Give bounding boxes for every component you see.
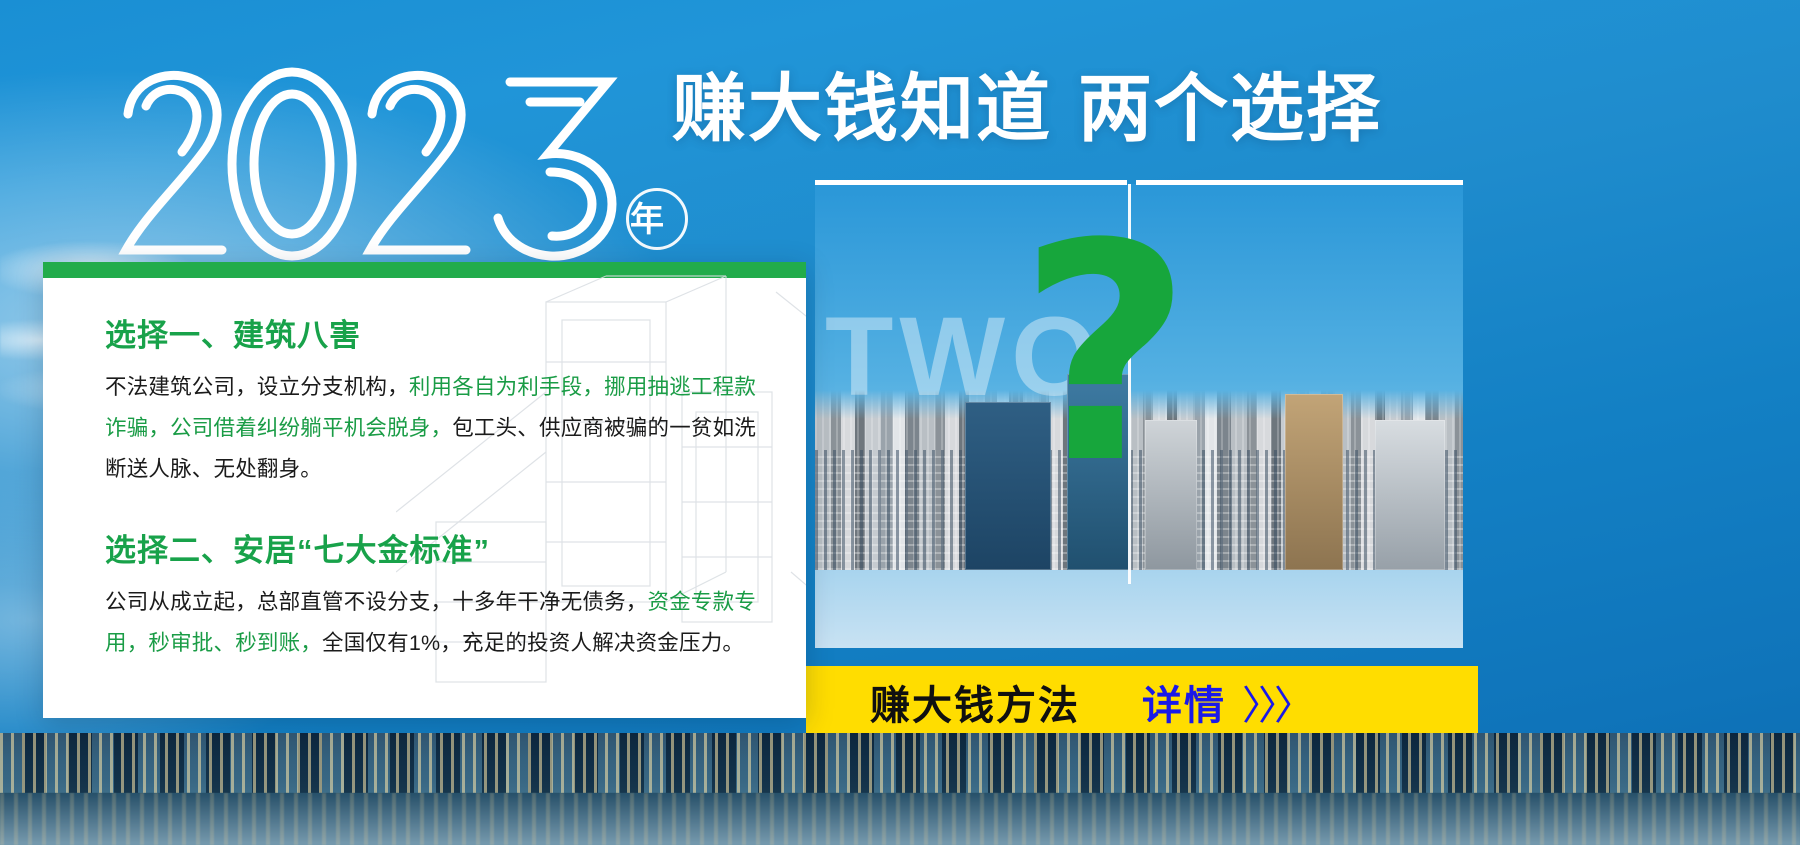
headline-rule-right — [1136, 180, 1463, 185]
s1-line2-black: 包工头、供应商被骗的一贫如洗 — [452, 416, 756, 440]
banner-stage: TWO CHOICES ? — [0, 0, 1800, 845]
page-title: 赚大钱知道两个选择 — [672, 72, 1382, 146]
s2-line2-green: 用，秒审批、秒到账， — [105, 631, 322, 655]
s2-line1-black: 公司从成立起，总部直管不设分支，十多年干净无债务， — [105, 590, 648, 614]
bottom-water-reflection — [0, 793, 1800, 845]
s2-line1-green: 资金专款专 — [648, 590, 757, 614]
cta-banner[interactable]: 赚大钱方法 详情 〉〉〉 — [806, 666, 1478, 738]
chevron-right-icon: 〉〉〉 — [1242, 673, 1310, 731]
bottom-buildings — [0, 733, 1800, 793]
headline-part-2: 两个选择 — [1078, 67, 1382, 150]
section-2-title: 选择二、安居“七大金标准” — [105, 525, 795, 570]
question-mark-graphic: ? — [1018, 205, 1192, 505]
s1-line1-black: 不法建筑公司，设立分支机构， — [105, 375, 409, 399]
card-section-2: 选择二、安居“七大金标准” 公司从成立起，总部直管不设分支，十多年干净无债务，资… — [105, 525, 795, 664]
s1-line1-green: 利用各自为利手段，挪用抽逃工程款 — [409, 375, 756, 399]
cta-main-label: 赚大钱方法 — [870, 673, 1080, 731]
building-tower-4 — [1285, 394, 1343, 570]
year-suffix-label: 年 — [630, 192, 665, 241]
headline-part-1: 赚大钱知道 — [672, 67, 1052, 150]
s1-line2-green: 诈骗，公司借着纠纷躺平机会脱身， — [105, 416, 452, 440]
bottom-cityscape-strip — [0, 733, 1800, 845]
section-1-title: 选择一、建筑八害 — [105, 310, 795, 355]
year-2023-graphic — [110, 62, 690, 262]
card-section-1: 选择一、建筑八害 不法建筑公司，设立分支机构，利用各自为利手段，挪用抽逃工程款诈… — [105, 310, 795, 490]
card-top-accent-bar — [43, 262, 806, 278]
section-1-body: 不法建筑公司，设立分支机构，利用各自为利手段，挪用抽逃工程款诈骗，公司借着纠纷躺… — [105, 367, 777, 490]
cta-detail-link[interactable]: 详情 — [1142, 673, 1226, 731]
headline-rule-left — [815, 180, 1127, 185]
s2-line2-black: 全国仅有1%，充足的投资人解决资金压力。 — [322, 631, 744, 655]
section-2-body: 公司从成立起，总部直管不设分支，十多年干净无债务，资金专款专用，秒审批、秒到账，… — [105, 582, 777, 664]
s1-line3-black: 断送人脉、无处翻身。 — [105, 457, 322, 481]
content-card: 选择一、建筑八害 不法建筑公司，设立分支机构，利用各自为利手段，挪用抽逃工程款诈… — [43, 262, 806, 718]
building-tower-5 — [1375, 420, 1445, 570]
